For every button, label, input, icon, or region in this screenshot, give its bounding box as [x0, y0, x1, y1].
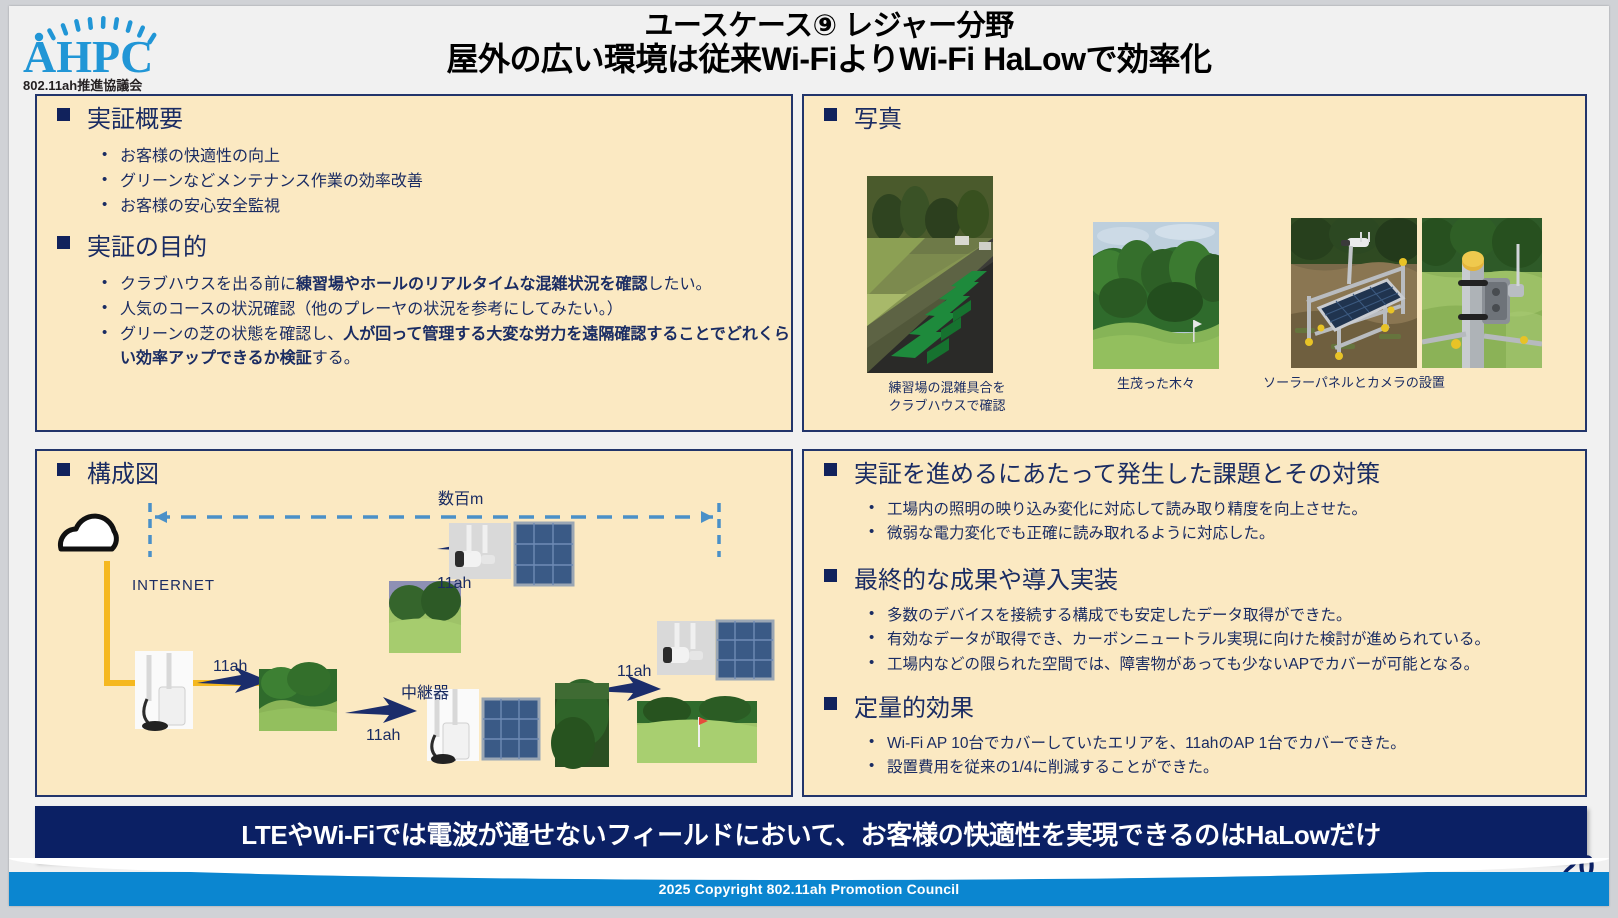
photo-caption: ソーラーパネルとカメラの設置	[1254, 374, 1454, 392]
photo-item: 練習場の混雑具合を クラブハウスで確認	[867, 176, 1027, 414]
slide-title: ユースケース⑨ レジャー分野 屋外の広い環境は従来Wi-FiよりWi-Fi Ha…	[209, 10, 1449, 78]
overview-heading-1-label: 実証概要	[87, 108, 183, 132]
internet-label: INTERNET	[132, 577, 215, 594]
overview-heading-2: 実証の目的	[57, 236, 207, 260]
photo-heading: 写真	[824, 108, 902, 132]
conclusion-banner: LTEやWi-Fiでは電波が通せないフィールドにおいて、お客様の快適性を実現でき…	[35, 806, 1587, 861]
photo-heading-label: 写真	[854, 108, 902, 132]
camera-device-top	[449, 523, 511, 579]
diagram-panel: 構成図	[35, 449, 793, 797]
square-bullet-icon	[57, 108, 70, 121]
photo-panel: 写真	[802, 94, 1587, 432]
solar-panel-icon	[515, 523, 573, 585]
ahpc-logo-icon: AHPC 802.11ah推進協議会	[17, 8, 187, 96]
forest-thumb-1	[259, 662, 337, 731]
list-item: Wi-Fi AP 10台でカバーしていたエリアを、11ahのAP 1台でカバーで…	[864, 732, 1574, 755]
link-label-2: 11ah	[366, 727, 400, 745]
text-plain: グリーンの芝の状態を確認し、	[120, 326, 343, 343]
square-bullet-icon	[824, 108, 837, 121]
results-bullet-list-2: 多数のデバイスを接続する構成でも安定したデータ取得ができた。 有効なデータが取得…	[864, 603, 1579, 677]
camera-pole-photo	[1422, 218, 1542, 368]
list-item: 微弱な電力変化でも正確に読み取れるように対応した。	[864, 522, 1574, 545]
photo-caption: 練習場の混雑具合を クラブハウスで確認	[867, 379, 1027, 414]
network-diagram	[37, 451, 791, 795]
link-label-3: 11ah	[437, 575, 471, 593]
list-item: 多数のデバイスを接続する構成でも安定したデータ取得ができた。	[864, 604, 1579, 627]
text-plain: する。	[312, 350, 360, 367]
logo-subtitle: 802.11ah推進協議会	[23, 78, 143, 93]
overview-panel: 実証概要 お客様の快適性の向上 グリーンなどメンテナンス作業の効率改善 お客様の…	[35, 94, 793, 432]
list-item: 工場内などの限られた空間では、障害物があっても少ないAPでカバーが可能となる。	[864, 653, 1579, 676]
results-heading-2-label: 最終的な成果や導入実装	[854, 569, 1118, 593]
text-emphasis: 練習場やホールのリアルタイムな混雑状況を確認	[296, 276, 648, 293]
access-point-device	[135, 651, 193, 731]
list-item: 人気のコースの状況確認（他のプレーヤの状況を参考にしてみたい。）	[97, 298, 797, 322]
results-heading-1: 実証を進めるにあたって発生した課題とその対策	[824, 463, 1380, 487]
overview-heading-2-label: 実証の目的	[87, 236, 207, 260]
copyright-text: 2025 Copyright 802.11ah Promotion Counci…	[9, 872, 1609, 906]
list-item: グリーンなどメンテナンス作業の効率改善	[97, 170, 777, 194]
solar-panel-photo	[1291, 218, 1417, 368]
results-bullet-list-1: 工場内の照明の映り込み変化に対応して読み取り精度を向上させた。 微弱な電力変化で…	[864, 497, 1574, 547]
driving-range-photo	[867, 176, 993, 373]
text-plain: クラブハウスを出る前に	[120, 276, 296, 293]
list-item: お客様の安心安全監視	[97, 195, 777, 219]
ahpc-logo: AHPC 802.11ah推進協議会	[17, 8, 187, 96]
photo-caption: 生茂った木々	[1093, 375, 1219, 393]
photo-item: ソーラーパネルとカメラの設置	[1291, 218, 1417, 392]
text-plain: したい。	[648, 276, 712, 293]
overview-bullet-list-2: クラブハウスを出る前に練習場やホールのリアルタイムな混雑状況を確認したい。 人気…	[97, 272, 797, 372]
title-line-2: 屋外の広い環境は従来Wi-FiよりWi-Fi HaLowで効率化	[209, 42, 1449, 78]
results-panel: 実証を進めるにあたって発生した課題とその対策 工場内の照明の映り込み変化に対応し…	[802, 449, 1587, 797]
list-item: クラブハウスを出る前に練習場やホールのリアルタイムな混雑状況を確認したい。	[97, 273, 797, 297]
square-bullet-icon	[57, 236, 70, 249]
cloud-icon	[60, 516, 116, 549]
camera-device-right	[657, 621, 715, 675]
photo-item	[1422, 218, 1548, 368]
conclusion-banner-text: LTEやWi-Fiでは電波が通せないフィールドにおいて、お客様の快適性を実現でき…	[241, 815, 1381, 852]
list-item: お客様の快適性の向上	[97, 145, 777, 169]
results-heading-3: 定量的効果	[824, 697, 974, 721]
overview-bullet-list-1: お客様の快適性の向上 グリーンなどメンテナンス作業の効率改善 お客様の安心安全監…	[97, 144, 777, 220]
arrow-head-right-icon	[701, 511, 713, 523]
list-item: 有効なデータが取得でき、カーボンニュートラル実現に向けた検討が進められている。	[864, 628, 1579, 651]
results-heading-3-label: 定量的効果	[854, 697, 974, 721]
overview-heading-1: 実証概要	[57, 108, 183, 132]
results-heading-2: 最終的な成果や導入実装	[824, 569, 1118, 593]
solar-panel-icon	[483, 699, 539, 759]
link-label-4: 11ah	[617, 663, 651, 681]
square-bullet-icon	[824, 463, 837, 476]
arrow-head-left-icon	[155, 511, 167, 523]
distance-arrow-icon	[150, 503, 719, 557]
distance-label: 数百m	[438, 485, 483, 509]
results-heading-1-label: 実証を進めるにあたって発生した課題とその対策	[854, 463, 1380, 487]
photo-item: 生茂った木々	[1093, 222, 1219, 393]
list-item: 設置費用を従来の1/4に削減することができた。	[864, 756, 1574, 779]
square-bullet-icon	[824, 697, 837, 710]
tree-thumb	[551, 679, 609, 769]
svg-text:AHPC: AHPC	[23, 31, 153, 82]
footer-bar: 2025 Copyright 802.11ah Promotion Counci…	[9, 872, 1609, 906]
forest-photo	[1093, 222, 1219, 369]
solar-panel-icon	[717, 621, 773, 679]
results-bullet-list-3: Wi-Fi AP 10台でカバーしていたエリアを、11ahのAP 1台でカバーで…	[864, 731, 1574, 781]
text-plain: 人気のコースの状況確認（他のプレーヤの状況を参考にしてみたい。）	[120, 301, 623, 318]
link-label-1: 11ah	[213, 658, 247, 676]
square-bullet-icon	[824, 569, 837, 582]
slide: AHPC 802.11ah推進協議会 ユースケース⑨ レジャー分野 屋外の広い環…	[9, 6, 1609, 906]
list-item: 工場内の照明の映り込み変化に対応して読み取り精度を向上させた。	[864, 498, 1574, 521]
title-line-1: ユースケース⑨ レジャー分野	[209, 10, 1449, 42]
list-item: グリーンの芝の状態を確認し、人が回って管理する大変な労力を遠隔確認することでどれ…	[97, 323, 797, 371]
repeater-label: 中継器	[401, 679, 449, 703]
green-thumb	[637, 696, 757, 763]
